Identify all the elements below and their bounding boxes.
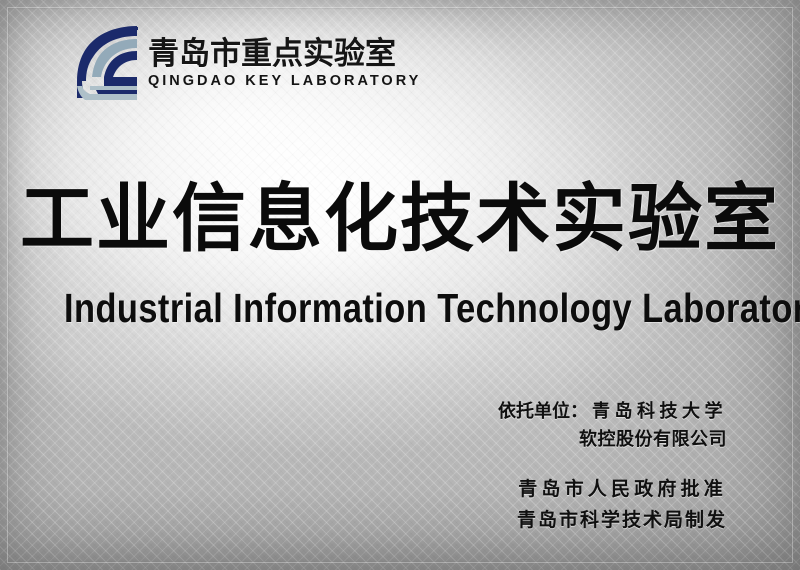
laboratory-plaque: 青岛市重点实验室 QINGDAO KEY LABORATORY 工业信息化技术实…: [0, 0, 800, 570]
logo-chinese-name: 青岛市重点实验室: [148, 38, 421, 71]
logo-lockup: 青岛市重点实验室 QINGDAO KEY LABORATORY: [74, 24, 421, 100]
qingdao-key-laboratory-arc-mark-icon: [74, 24, 138, 100]
logo-english-name: QINGDAO KEY LABORATORY: [148, 74, 421, 90]
footer-spacer: [498, 454, 727, 474]
host-institution-label: 依托单位：: [498, 401, 588, 422]
host-institution-second: 软控股份有限公司: [498, 426, 727, 454]
approval-authority: 青岛市人民政府批准: [498, 474, 727, 505]
logo-wordmark: 青岛市重点实验室 QINGDAO KEY LABORATORY: [148, 34, 421, 89]
page-title-english: Industrial Information Technology Labora…: [64, 288, 736, 329]
page-title-chinese: 工业信息化技术实验室: [0, 182, 800, 256]
host-institution-value: 青岛科技大学: [592, 401, 727, 422]
issuing-authority: 青岛市科学技术局制发: [498, 505, 727, 536]
plaque-content: 青岛市重点实验室 QINGDAO KEY LABORATORY 工业信息化技术实…: [0, 0, 800, 570]
affiliation-block: 依托单位：青岛科技大学 软控股份有限公司 青岛市人民政府批准 青岛市科学技术局制…: [498, 398, 727, 535]
host-institution-line: 依托单位：青岛科技大学: [498, 398, 727, 426]
